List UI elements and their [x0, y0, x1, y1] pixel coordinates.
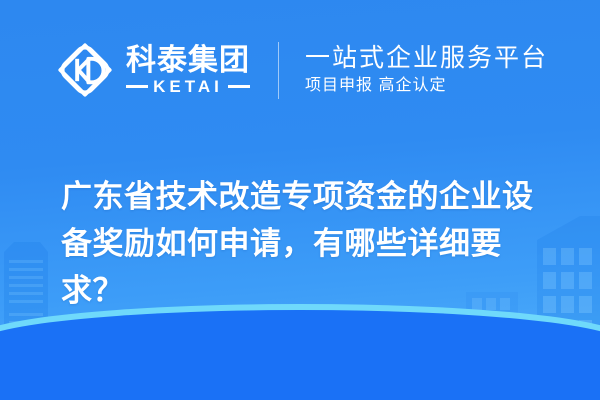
header-divider — [278, 42, 279, 99]
slogan-secondary: 项目申报 高企认定 — [305, 78, 548, 94]
wordmark-dash-right — [228, 85, 250, 88]
brand-name-cn: 科泰集团 — [126, 46, 250, 76]
banner-title: 广东省技术改造专项资金的企业设备奖励如何申请，有哪些详细要求？ — [61, 173, 561, 314]
wordmark-dash-left — [126, 85, 148, 88]
ketai-diamond-monogram-icon — [57, 42, 113, 98]
brand-logo[interactable]: 科泰集团 KETAI — [57, 42, 250, 98]
header-slogan: 一站式企业服务平台 项目申报 高企认定 — [305, 46, 548, 94]
brand-name-en: KETAI — [153, 78, 223, 95]
banner-header: 科泰集团 KETAI 一站式企业服务平台 项目申报 高企认定 — [0, 0, 600, 140]
promotional-banner: 科泰集团 KETAI 一站式企业服务平台 项目申报 高企认定 广东省技术改造专项… — [0, 0, 600, 400]
brand-name-en-row: KETAI — [126, 78, 250, 95]
brand-wordmark: 科泰集团 KETAI — [126, 46, 250, 95]
slogan-primary: 一站式企业服务平台 — [305, 46, 548, 71]
bottom-color-band — [0, 310, 600, 400]
